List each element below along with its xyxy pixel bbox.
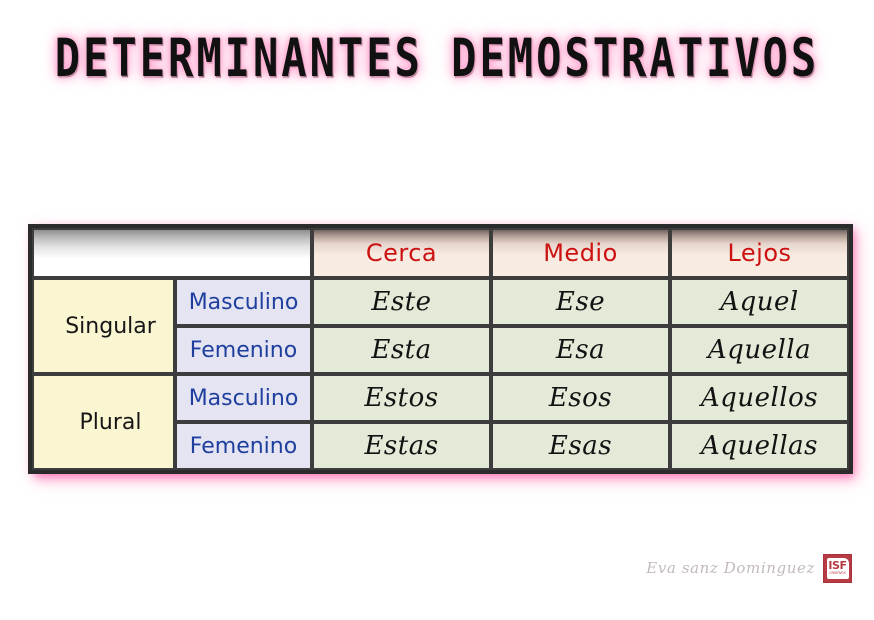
gender-label-singular-masculino: Masculino bbox=[175, 278, 312, 326]
header-cerca: Cerca bbox=[312, 228, 491, 278]
demonstratives-table: Cerca Medio Lejos Singular Masculino Est… bbox=[28, 224, 853, 474]
cell-singular-femenino-lejos: Aquella bbox=[670, 326, 849, 374]
cell-plural-masculino-medio: Esos bbox=[491, 374, 670, 422]
header-medio: Medio bbox=[491, 228, 670, 278]
author-signature: Eva sanz Dominguez bbox=[646, 559, 815, 577]
cell-singular-femenino-cerca: Esta bbox=[312, 326, 491, 374]
logo-inner-shape: ISF CREATIVOS bbox=[827, 558, 849, 579]
table-row: Singular Masculino Este Ese Aquel bbox=[32, 278, 849, 326]
row-label-singular: Singular bbox=[32, 278, 175, 374]
gender-label-plural-masculino: Masculino bbox=[175, 374, 312, 422]
page-title: DETERMINANTES DEMOSTRATIVOS bbox=[55, 29, 819, 90]
page-title-container: DETERMINANTES DEMOSTRATIVOS bbox=[0, 34, 874, 84]
gender-label-plural-femenino: Femenino bbox=[175, 422, 312, 470]
header-lejos: Lejos bbox=[670, 228, 849, 278]
table-corner-cell bbox=[32, 228, 312, 278]
isf-logo-icon: ISF CREATIVOS bbox=[823, 554, 852, 583]
cell-plural-masculino-lejos: Aquellos bbox=[670, 374, 849, 422]
cell-plural-femenino-cerca: Estas bbox=[312, 422, 491, 470]
table-row: Plural Masculino Estos Esos Aquellos bbox=[32, 374, 849, 422]
table-header-row: Cerca Medio Lejos bbox=[32, 228, 849, 278]
logo-text: ISF bbox=[828, 560, 846, 571]
cell-plural-femenino-medio: Esas bbox=[491, 422, 670, 470]
cell-singular-femenino-medio: Esa bbox=[491, 326, 670, 374]
footer: Eva sanz Dominguez ISF CREATIVOS bbox=[612, 548, 852, 588]
gender-label-singular-femenino: Femenino bbox=[175, 326, 312, 374]
cell-plural-masculino-cerca: Estos bbox=[312, 374, 491, 422]
cell-singular-masculino-lejos: Aquel bbox=[670, 278, 849, 326]
logo-subtext: CREATIVOS bbox=[829, 572, 845, 575]
row-label-plural: Plural bbox=[32, 374, 175, 470]
cell-singular-masculino-medio: Ese bbox=[491, 278, 670, 326]
cell-singular-masculino-cerca: Este bbox=[312, 278, 491, 326]
cell-plural-femenino-lejos: Aquellas bbox=[670, 422, 849, 470]
